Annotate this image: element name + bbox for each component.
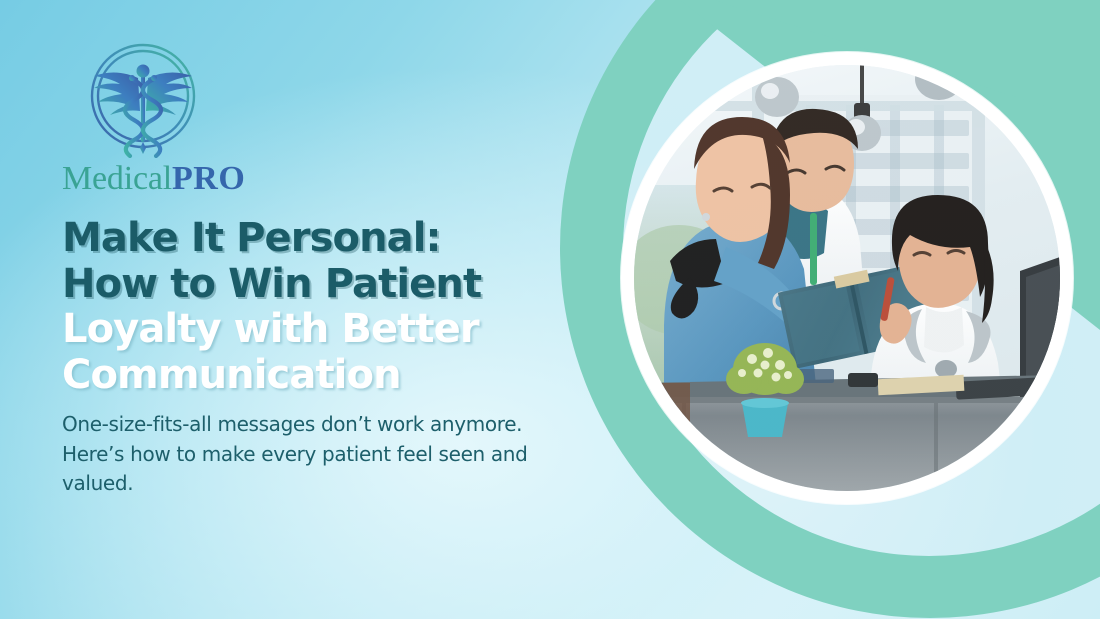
hero-image-ring: [621, 52, 1073, 504]
banner-canvas: MedicalPRO Make It Personal: How to Win …: [0, 0, 1100, 619]
content-column: MedicalPRO Make It Personal: How to Win …: [62, 40, 562, 498]
page-title: Make It Personal: How to Win Patient Loy…: [62, 216, 562, 398]
brand-name-part2: PRO: [172, 160, 245, 197]
hero-image: [634, 65, 1060, 491]
headline-line-4: Communication: [62, 353, 562, 399]
headline-line-3: Loyalty with Better: [62, 307, 562, 353]
brand-wordmark: MedicalPRO: [62, 162, 232, 196]
headline-line-1: Make It Personal:: [62, 216, 562, 262]
caduceus-icon: [80, 40, 206, 158]
brand-logo[interactable]: MedicalPRO: [62, 40, 232, 196]
headline-line-2: How to Win Patient: [62, 262, 562, 308]
page-subtitle: One-size-fits-all messages don’t work an…: [62, 410, 544, 498]
brand-name-part1: Medical: [62, 160, 172, 197]
